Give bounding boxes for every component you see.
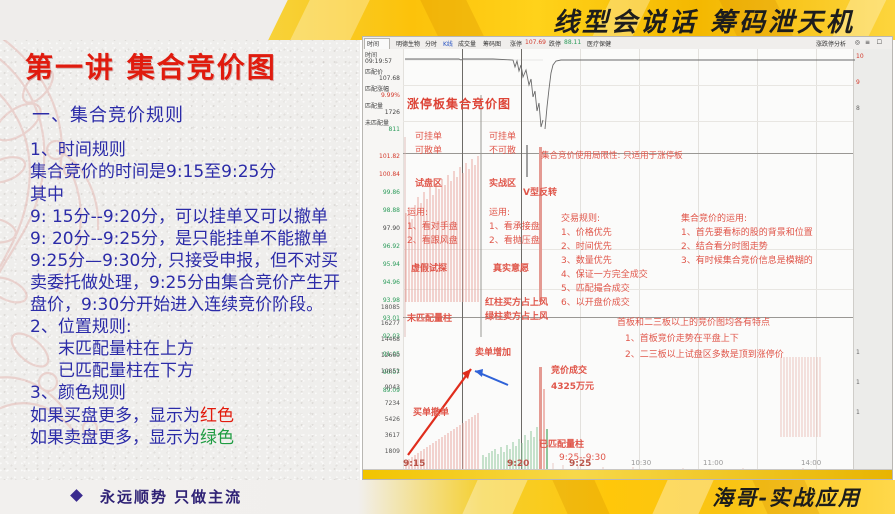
rule3-line-2-text: 如果卖盘更多，显示为 [30, 428, 200, 448]
bottom-banner: 永远顺势 只做主流 海哥-实战应用 [0, 480, 895, 514]
rule1-line-6: 卖委托做处理，9:25分由集合竞价产生开 [30, 272, 360, 294]
time-axis: 9:15 9:20 9:25 10:30 11:00 14:00 [403, 459, 854, 469]
toolbar-tab-minute[interactable]: 分时 [425, 39, 437, 48]
x-tick-2: 9:25 [569, 459, 591, 469]
banner-shard-1 [285, 0, 374, 40]
application-3: 3、有时候集合竞价信息是模糊的 [681, 253, 813, 266]
toolbar-limitdown-label: 跌停 [549, 39, 561, 48]
trade-rule-2: 2、时间优先 [561, 239, 612, 252]
chart-annotation-title: 涨停板集合竞价图 [407, 95, 511, 112]
unmatched-bar-label: 末匹配量柱 [407, 311, 452, 324]
price-tick-8: 93.98 [383, 297, 400, 304]
volume-axis: 18085 16277 14468 12660 10851 9043 7234 … [363, 304, 403, 479]
matched-bar-label: 已匹配量柱 [539, 437, 584, 450]
rule2-line-1: 末匹配量柱在上方 [58, 338, 360, 360]
rule2-line-2: 已匹配量柱在下方 [58, 360, 360, 382]
toolbar-limitup-value: 107.69 [525, 39, 546, 46]
buy-cancel-label: 买单撤单 [413, 405, 449, 418]
rule1-line-3: 9: 15分--9:20分，可以挂单又可以撤单 [30, 206, 360, 228]
top-banner: 线型会说话 筹码泄天机 [0, 0, 895, 40]
price-tick-5: 96.92 [383, 243, 400, 250]
rule3-line-2: 如果卖盘更多，显示为绿色 [30, 427, 360, 449]
right-axis-tick-4: 1 [856, 379, 860, 386]
board-note-1: 1、首板竞价走势在平盘上下 [625, 331, 739, 344]
toolbar-tab-chips[interactable]: 筹码图 [483, 39, 501, 48]
price-tick-2: 99.86 [383, 189, 400, 196]
left-zone-line2: 可散单 [415, 143, 442, 156]
footer-shard-1 [457, 480, 533, 514]
right-conclusion: 真实意愿 [493, 261, 529, 274]
left-usage-head: 运用: [407, 205, 428, 218]
toolbar-limitup-label: 涨停 [510, 39, 522, 48]
rule3-line-1: 如果买盘更多，显示为红色 [30, 405, 360, 427]
v-reversal-label: V型反转 [523, 185, 557, 198]
left-content-pane: 股票新技术分析 第一讲 集合竞价图 一、集合竞价规则 1、时间规则 集合竞价的时… [0, 0, 360, 514]
toolbar-sector[interactable]: 医疗保健 [587, 39, 611, 48]
volume-tick-5: 9043 [385, 384, 400, 391]
toolbar-limitdown-value: 88.11 [564, 39, 581, 46]
banner-shard-2 [417, 0, 488, 40]
trade-rule-6: 6、以开盘价成交 [561, 295, 630, 308]
board-note-2: 2、二三板以上试盘区多数是顶到涨停价 [625, 347, 784, 360]
rule3-line-1-text: 如果买盘更多，显示为 [30, 406, 200, 426]
trade-rule-1: 1、价格优先 [561, 225, 612, 238]
info-unmatched-label: 未匹配量 [365, 118, 389, 127]
rule1-line-5: 9:25分—9:30分, 只接受申报，但不对买 [30, 250, 360, 272]
footer-slogan: 永远顺势 只做主流 [100, 486, 242, 507]
toolbar-stock-name[interactable]: 明德生物 [396, 39, 420, 48]
rule1-line-7: 盘价，9:30分开始进入连续竞价阶段。 [30, 294, 360, 316]
right-axis-tick-2: 8 [856, 105, 860, 112]
page-title: 第一讲 集合竞价图 [25, 46, 277, 86]
right-usage-head: 运用: [489, 205, 510, 218]
slide-root: 股票新技术分析 第一讲 集合竞价图 一、集合竞价规则 1、时间规则 集合竞价的时… [0, 0, 895, 514]
right-axis-tick-5: 1 [856, 409, 860, 416]
volume-tick-1: 16277 [381, 320, 400, 327]
right-usage-1: 1、看承接盘 [489, 219, 540, 232]
circle-icon[interactable]: ◎ [855, 39, 860, 46]
x-tick-3: 10:30 [631, 459, 651, 467]
banner-title: 线型会说话 筹码泄天机 [553, 2, 855, 39]
volume-tick-0: 18085 [381, 304, 400, 311]
right-axis-tick-3: 1 [856, 349, 860, 356]
toolbar-time-label: 时间 [367, 39, 379, 48]
section-heading: 一、集合竞价规则 [32, 104, 360, 127]
info-matchvol-value: 1726 [385, 109, 400, 116]
window-icon[interactable]: ☐ [877, 39, 882, 46]
lesson-body: 一、集合竞价规则 1、时间规则 集合竞价的时间是9:15至9:25分 其中 9:… [10, 104, 360, 449]
footer-shard-3 [646, 480, 720, 514]
auction-turnover-line2: 4325万元 [551, 379, 594, 392]
toolbar-tab-volume[interactable]: 成交量 [458, 39, 476, 48]
price-tick-6: 95.94 [383, 261, 400, 268]
auction-turnover-line1: 竞价成交 [551, 363, 587, 376]
footer-shard-2 [549, 480, 613, 514]
right-price-axis: 10 9 8 1 1 1 [853, 49, 892, 480]
x-tick-0: 9:15 [403, 459, 425, 469]
board-note-head: 首板和二三板以上的竞价图均各有特点 [617, 315, 770, 328]
red-bar-meaning: 红柱买方占上风 [485, 295, 548, 308]
info-unmatched-value: 811 [389, 126, 400, 133]
left-usage-2: 2、看跟风盘 [407, 233, 458, 246]
sell-add-label: 卖单增加 [475, 345, 511, 358]
rule3-heading: 3、颜色规则 [30, 382, 360, 404]
left-zone-name: 试盘区 [415, 176, 442, 189]
rule3-green-word: 绿色 [200, 428, 234, 448]
left-usage-1: 1、看对手盘 [407, 219, 458, 232]
left-conclusion: 虚假试探 [411, 261, 447, 274]
rule1-heading: 1、时间规则 [30, 139, 360, 161]
application-1: 1、首先要看标的股的背景和位置 [681, 225, 813, 238]
volume-tick-6: 7234 [385, 400, 400, 407]
application-2: 2、结合看分时图走势 [681, 239, 768, 252]
volume-tick-9: 1809 [385, 448, 400, 455]
right-zone-line2: 不可散 [489, 143, 516, 156]
green-bar-meaning: 绿柱卖方占上风 [485, 309, 548, 322]
quote-info-column: 时间 09:19:57 匹配价 107.68 匹配涨幅 9.99% 匹配量 17… [363, 49, 404, 480]
price-tick-7: 94.96 [383, 279, 400, 286]
right-zone-name: 实战区 [489, 176, 516, 189]
info-time-value: 09:19:57 [365, 58, 392, 65]
price-tick-1: 100.84 [379, 171, 400, 178]
right-axis-tick-0: 10 [856, 53, 864, 60]
banner-left-plate [0, 0, 250, 40]
right-usage-2: 2、看抛压盘 [489, 233, 540, 246]
volume-tick-2: 14468 [381, 336, 400, 343]
trade-rule-4: 4、保证一方完全成交 [561, 267, 648, 280]
volume-tick-4: 10851 [381, 368, 400, 375]
menu-icon[interactable]: ≡ [865, 39, 870, 46]
right-zone-line1: 可挂单 [489, 129, 516, 142]
trade-rule-3: 3、数量优先 [561, 253, 612, 266]
info-matchchange-value: 9.99% [381, 92, 400, 99]
price-tick-3: 98.88 [383, 207, 400, 214]
trade-rule-5: 5、匹配撮合成交 [561, 281, 630, 294]
rule1-line-4: 9: 20分--9:25分，是只能挂单不能撤单 [30, 228, 360, 250]
price-tick-4: 97.90 [383, 225, 400, 232]
volume-tick-7: 5426 [385, 416, 400, 423]
software-statusbar[interactable] [363, 469, 892, 479]
trading-software-screenshot[interactable]: 时间 明德生物 分时 K线 成交量 筹码图 涨停 107.69 跌停 88.11… [362, 36, 893, 480]
trade-rules-head: 交易规则: [561, 211, 600, 224]
right-axis-tick-1: 9 [856, 79, 860, 86]
application-head: 集合竞价的运用: [681, 211, 747, 224]
diamond-bullet-icon [70, 489, 83, 502]
info-matchvol-label: 匹配量 [365, 101, 383, 110]
left-zone-line1: 可挂单 [415, 129, 442, 142]
rule1-line-1: 集合竞价的时间是9:15至9:25分 [30, 161, 360, 183]
toolbar-tab-kline[interactable]: K线 [443, 39, 453, 48]
x-tick-4: 11:00 [703, 459, 723, 467]
price-tick-0: 101.82 [379, 153, 400, 160]
info-matchprice-value: 107.68 [379, 75, 400, 82]
volume-tick-3: 12660 [381, 352, 400, 359]
footer-brand: 海哥-实战应用 [712, 482, 861, 512]
toolbar-limit-analysis[interactable]: 涨跌停分析 [816, 39, 846, 48]
rule3-red-word: 红色 [200, 406, 234, 426]
x-tick-1: 9:20 [507, 459, 529, 469]
limitation-note: 集合竞价使用局限性: 只适用于涨停板 [541, 149, 683, 161]
x-tick-5: 14:00 [801, 459, 821, 467]
rule1-line-2: 其中 [30, 184, 360, 206]
rule2-heading: 2、位置规则: [30, 316, 360, 338]
volume-tick-8: 3617 [385, 432, 400, 439]
